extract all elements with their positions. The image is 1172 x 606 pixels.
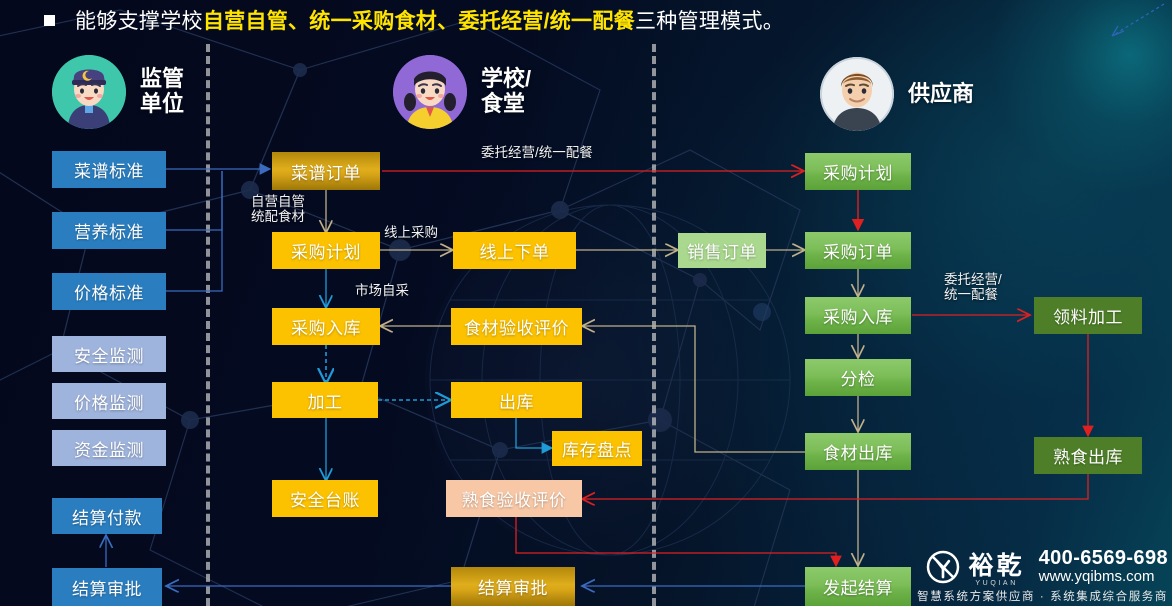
persona-regulator: 监管 单位	[52, 55, 184, 129]
node-cooked-outbound[interactable]: 熟食出库	[1034, 437, 1142, 474]
brand-contact: 400-6569-698 www.yqibms.com	[1039, 547, 1168, 586]
brand-name-pinyin: YUQIAN	[969, 580, 1025, 587]
edge-label-market-self-buy: 市场自采	[355, 283, 409, 298]
slide-header: 能够支撑学校自营自管、统一采购食材、委托经营/统一配餐三种管理模式。	[0, 0, 1172, 40]
node-purchase-inbound-mid[interactable]: 采购入库	[272, 308, 380, 345]
edge-label-entrust-right: 委托经营/ 统一配餐	[944, 272, 1002, 302]
node-inventory-count[interactable]: 库存盘点	[552, 431, 642, 466]
brand-tagline: 智慧系统方案供应商 · 系统集成综合服务商	[917, 588, 1168, 604]
edge-label-online-purchase: 线上采购	[384, 225, 438, 240]
lane-divider-regulator-school	[206, 44, 210, 606]
node-settle-payment[interactable]: 结算付款	[52, 498, 162, 534]
node-purchase-inbound-right[interactable]: 采购入库	[805, 297, 911, 334]
lane-divider-school-supplier	[652, 44, 656, 606]
slide-canvas: 能够支撑学校自营自管、统一采购食材、委托经营/统一配餐三种管理模式。	[0, 0, 1172, 606]
persona-label-supplier: 供应商	[908, 82, 974, 107]
headline-suffix: 三种管理模式。	[635, 10, 784, 33]
node-menu-order[interactable]: 菜谱订单	[272, 152, 380, 190]
node-menu-standard[interactable]: 菜谱标准	[52, 151, 166, 188]
node-cooked-acceptance[interactable]: 熟食验收评价	[446, 480, 582, 517]
brand-telephone: 400-6569-698	[1039, 547, 1168, 569]
edge-label-self-run: 自营自管 统配食材	[251, 194, 305, 224]
node-ingredient-outbound[interactable]: 食材出库	[805, 433, 911, 470]
square-bullet-icon	[44, 15, 55, 26]
edge-label-entrust-top: 委托经营/统一配餐	[481, 145, 593, 160]
node-processing[interactable]: 加工	[272, 382, 378, 418]
node-outbound[interactable]: 出库	[451, 382, 582, 418]
node-sorting[interactable]: 分检	[805, 359, 911, 396]
persona-supplier: 供应商	[820, 57, 974, 131]
brand-name: 裕乾 YUQIAN	[969, 546, 1025, 587]
node-ingredient-acceptance[interactable]: 食材验收评价	[451, 308, 582, 345]
school-girl-avatar-icon	[393, 55, 467, 129]
brand-footer: 裕乾 YUQIAN 400-6569-698 www.yqibms.com 智慧…	[917, 546, 1168, 604]
headline-highlight: 自营自管、统一采购食材、委托经营/统一配餐	[203, 10, 635, 33]
node-sales-order[interactable]: 销售订单	[678, 233, 766, 268]
node-online-order[interactable]: 线上下单	[453, 232, 576, 269]
supplier-man-avatar-icon	[820, 57, 894, 131]
page-title: 能够支撑学校自营自管、统一采购食材、委托经营/统一配餐三种管理模式。	[75, 5, 784, 35]
node-purchase-order[interactable]: 采购订单	[805, 232, 911, 269]
node-safety-ledger[interactable]: 安全台账	[272, 480, 378, 517]
persona-label-regulator: 监管 单位	[140, 67, 184, 116]
headline-prefix: 能够支撑学校	[75, 10, 203, 33]
persona-label-school-canteen: 学校/ 食堂	[481, 67, 531, 116]
node-price-monitor[interactable]: 价格监测	[52, 383, 166, 419]
node-purchase-plan-right[interactable]: 采购计划	[805, 153, 911, 190]
yuqian-logo-icon	[923, 547, 963, 587]
decorative-arrow-icon	[1102, 2, 1166, 42]
regulator-avatar-icon	[52, 55, 126, 129]
node-nutrition-standard[interactable]: 营养标准	[52, 212, 166, 249]
node-safety-monitor[interactable]: 安全监测	[52, 336, 166, 372]
brand-name-cn: 裕乾	[969, 552, 1025, 580]
node-initiate-settlement[interactable]: 发起结算	[805, 567, 911, 606]
node-settle-approval-mid[interactable]: 结算审批	[451, 567, 575, 606]
node-settle-approval-left[interactable]: 结算审批	[52, 568, 162, 606]
node-material-processing[interactable]: 领料加工	[1034, 297, 1142, 334]
persona-school-canteen: 学校/ 食堂	[393, 55, 531, 129]
brand-website[interactable]: www.yqibms.com	[1039, 569, 1168, 586]
node-purchase-plan-mid[interactable]: 采购计划	[272, 232, 380, 269]
node-fund-monitor[interactable]: 资金监测	[52, 430, 166, 466]
node-price-standard[interactable]: 价格标准	[52, 273, 166, 310]
